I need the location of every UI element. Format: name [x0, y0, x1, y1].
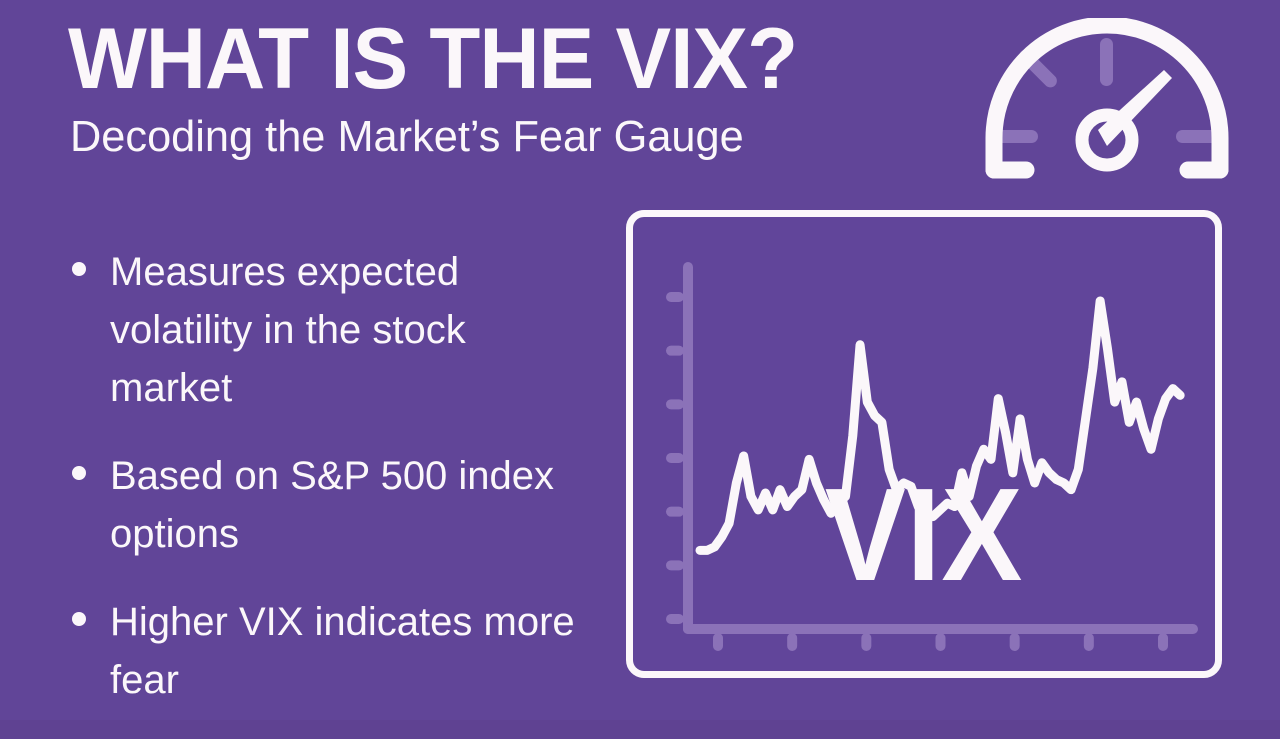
bullet-text: Measures expected volatility in the stoc…: [110, 243, 580, 417]
slide-root: WHAT IS THE VIX? Decoding the Market’s F…: [0, 0, 1280, 720]
chart-watermark-label: VIX: [656, 469, 1191, 601]
bullet-text: Higher VIX indicates more fear: [110, 593, 580, 709]
header: WHAT IS THE VIX? Decoding the Market’s F…: [68, 18, 948, 161]
bullet-dot-icon: [72, 612, 86, 626]
page-title: WHAT IS THE VIX?: [68, 18, 922, 101]
bullet-list: Measures expected volatility in the stoc…: [64, 243, 624, 739]
vix-chart-panel: VIX: [626, 210, 1222, 678]
list-item: Based on S&P 500 index options: [64, 447, 624, 563]
bullet-dot-icon: [72, 466, 86, 480]
page-subtitle: Decoding the Market’s Fear Gauge: [70, 113, 935, 161]
bullet-dot-icon: [72, 262, 86, 276]
speedometer-gauge-icon: [968, 18, 1246, 193]
list-item: Measures expected volatility in the stoc…: [64, 243, 624, 417]
bullet-text: Based on S&P 500 index options: [110, 447, 580, 563]
list-item: Higher VIX indicates more fear: [64, 593, 624, 709]
